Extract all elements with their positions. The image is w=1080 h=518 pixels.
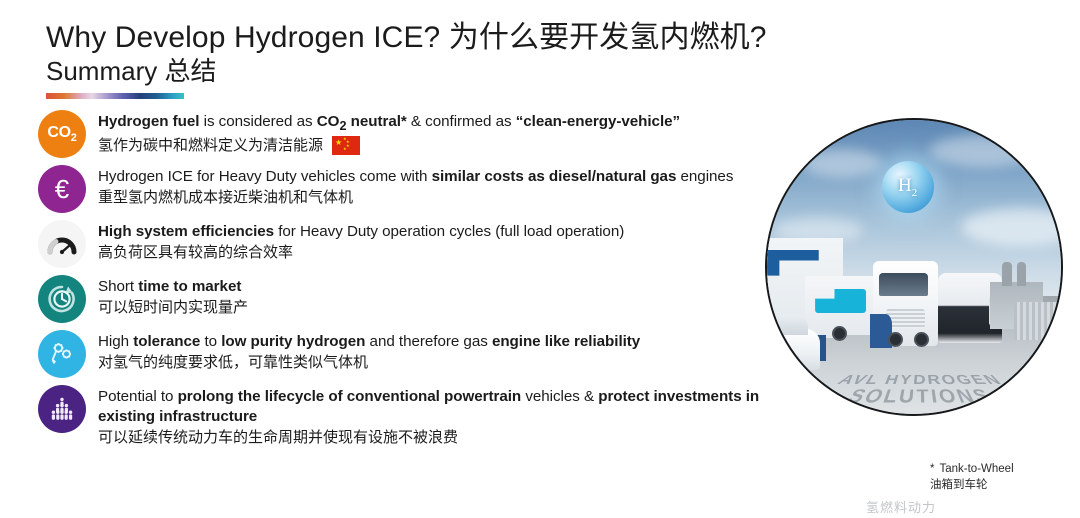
list-item-en: Hydrogen ICE for Heavy Duty vehicles com… (98, 167, 796, 187)
list-item: Potential to prolong the lifecycle of co… (36, 383, 796, 448)
photo-truck-cab (873, 261, 938, 346)
photo-car (765, 329, 820, 370)
clock-icon (38, 275, 86, 323)
clock-icon-glyph (46, 283, 78, 315)
footnote-en: Tank-to-Wheel (939, 463, 1013, 475)
photo-wheel (832, 326, 847, 341)
h2-bubble-icon: H2 (882, 161, 934, 213)
page-subtitle: Summary 总结 (46, 56, 946, 88)
footnote-en-row: *Tank-to-Wheel (930, 462, 1080, 477)
hydrogen-station-photo: H2 AVL HYDROGEN SOLUTIONS (765, 118, 1063, 416)
list-item: CO2 Hydrogen fuel is considered as CO2 n… (36, 108, 796, 160)
list-item-text: High system efficiencies for Heavy Duty … (98, 218, 796, 263)
euro-icon-label: € (55, 176, 69, 202)
list-item-text: High tolerance to low purity hydrogen an… (98, 328, 796, 373)
photo-wheel (888, 332, 903, 347)
list-item-zh: 可以延续传统动力车的生命周期并使现有设施不被浪费 (98, 428, 796, 448)
icon-slot: CO2 (36, 108, 88, 160)
icon-slot: € (36, 163, 88, 215)
photo-fence (1014, 302, 1061, 340)
h2-bubble-label: H2 (898, 175, 917, 199)
icon-slot (36, 328, 88, 380)
bullet-list: CO2 Hydrogen fuel is considered as CO2 n… (36, 108, 796, 451)
photo-cloud (929, 135, 1039, 167)
flag-star-small: ★ (343, 147, 347, 151)
wrench-gear-icon (38, 330, 86, 378)
slide-root: Why Develop Hydrogen ICE? 为什么要开发氢内燃机? Su… (0, 0, 1080, 518)
list-item-en: Potential to prolong the lifecycle of co… (98, 387, 796, 427)
icon-slot (36, 273, 88, 325)
list-item-zh: 氢作为碳中和燃料定义为清洁能源 (98, 136, 323, 156)
icon-slot (36, 383, 88, 435)
gauge-icon-glyph (47, 232, 77, 256)
icon-slot (36, 218, 88, 270)
photo-wheel (914, 332, 929, 347)
co2-icon: CO2 (38, 110, 86, 158)
list-item-en: Short time to market (98, 277, 796, 297)
photo-truck-windshield (879, 273, 928, 296)
flag-star-large: ★ (335, 139, 342, 147)
footnote-zh: 油箱到车轮 (930, 478, 1080, 493)
list-item-text: Hydrogen fuel is considered as CO2 neutr… (98, 108, 796, 156)
title-block: Why Develop Hydrogen ICE? 为什么要开发氢内燃机? Su… (46, 20, 946, 88)
people-group-icon (38, 385, 86, 433)
list-item-zh-row: 氢作为碳中和燃料定义为清洁能源 ★ ★ ★ ★ ★ (98, 135, 796, 156)
people-group-icon-glyph (47, 394, 77, 424)
list-item: High system efficiencies for Heavy Duty … (36, 218, 796, 270)
list-item-en: High system efficiencies for Heavy Duty … (98, 222, 796, 242)
page-title: Why Develop Hydrogen ICE? 为什么要开发氢内燃机? (46, 20, 946, 55)
co2-icon-label: CO2 (47, 124, 76, 144)
list-item: High tolerance to low purity hydrogen an… (36, 328, 796, 380)
list-item-zh: 重型氢内燃机成本接近柴油机和气体机 (98, 188, 796, 208)
list-item-en: Hydrogen fuel is considered as CO2 neutr… (98, 112, 796, 135)
list-item-zh: 对氢气的纯度要求低，可靠性类似气体机 (98, 353, 796, 373)
accent-bar (46, 93, 184, 99)
list-item-text: Short time to market 可以短时间内实现量产 (98, 273, 796, 318)
wrench-gear-icon-glyph (47, 339, 77, 369)
list-item-text: Hydrogen ICE for Heavy Duty vehicles com… (98, 163, 796, 208)
list-item-en: High tolerance to low purity hydrogen an… (98, 332, 796, 352)
list-item: € Hydrogen ICE for Heavy Duty vehicles c… (36, 163, 796, 215)
gauge-icon (38, 220, 86, 268)
list-item-zh: 可以短时间内实现量产 (98, 298, 796, 318)
euro-icon: € (38, 165, 86, 213)
watermark-text: 氢燃料动力 (866, 497, 1080, 518)
list-item-zh: 高负荷区具有较高的综合效率 (98, 243, 796, 263)
footnote: *Tank-to-Wheel 油箱到车轮 (930, 462, 1080, 493)
list-item-text: Potential to prolong the lifecycle of co… (98, 383, 796, 448)
china-flag-icon: ★ ★ ★ ★ ★ (332, 136, 360, 155)
footnote-star: * (930, 463, 934, 475)
list-item: Short time to market 可以短时间内实现量产 (36, 273, 796, 325)
